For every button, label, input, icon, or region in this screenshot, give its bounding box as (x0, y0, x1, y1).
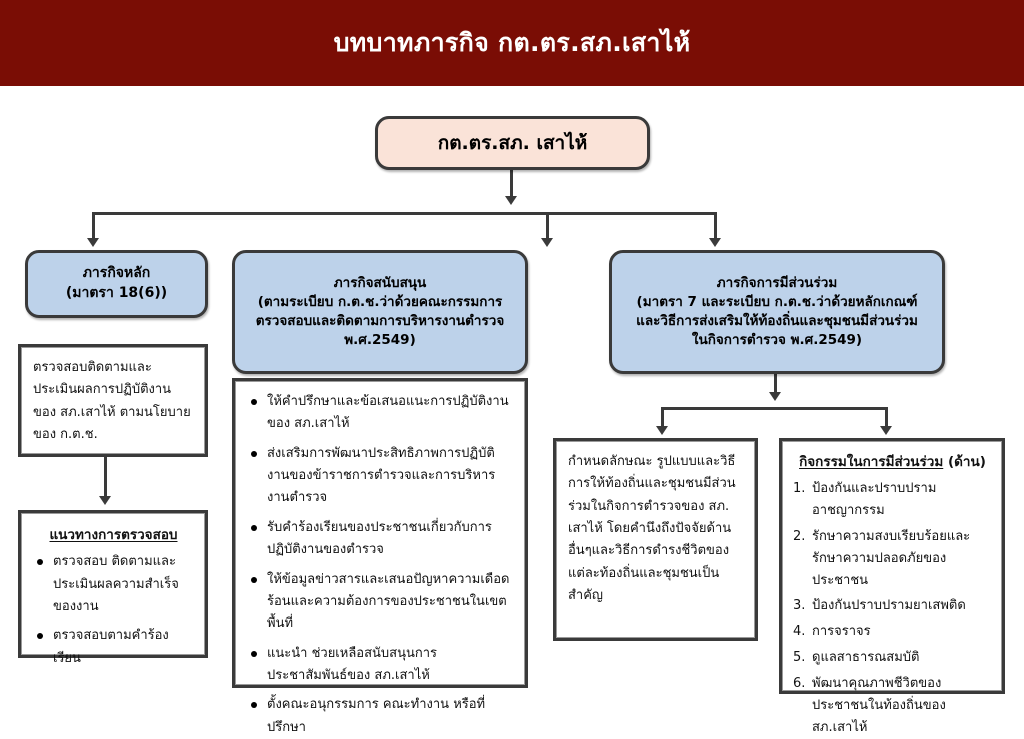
audit-guidelines-list: ตรวจสอบ ติดตามและประเมินผลความสำเร็จของง… (33, 551, 194, 670)
list-item: การจราจร (792, 621, 993, 643)
branch-node-main-mission[interactable]: ภารกิจหลัก (มาตรา 18(6)) (25, 250, 208, 318)
connector-drop-branch-2-arrow (541, 238, 553, 247)
connector-participation-drop-left-arrow (656, 426, 668, 435)
list-item: ตั้งคณะอนุกรรมการ คณะทำงาน หรือที่ปรึกษา (247, 694, 514, 739)
list-item: ดูแลสาธารณสมบัติ (792, 647, 993, 669)
branch-support-mission-title-line-2: (ตามระเบียบ ก.ต.ช.ว่าด้วยคณะกรรมการ (235, 293, 525, 312)
connector-drop-branch-1-arrow (87, 238, 99, 247)
support-mission-list: ให้คำปรึกษาและข้อเสนอแนะการปฏิบัติงานของ… (247, 391, 514, 739)
root-node-kor-tor-tor[interactable]: กต.ตร.สภ. เสาไห้ (375, 116, 650, 170)
connector-participation-stem-arrow (769, 392, 781, 401)
connector-drop-branch-2 (546, 212, 549, 241)
participation-activities-inner: กิจกรรมในการมีส่วนร่วม (ด้าน) ป้องกันและ… (782, 441, 1002, 691)
participation-activities-heading-plain: (ด้าน) (943, 454, 986, 470)
main-mission-body-text: ตรวจสอบติดตามและประเมินผลการปฏิบัติงานขอ… (33, 357, 194, 446)
list-item: ป้องกันและปราบปรามอาชญากรรม (792, 478, 993, 522)
branch-node-support-mission[interactable]: ภารกิจสนับสนุน (ตามระเบียบ ก.ต.ช.ว่าด้วย… (232, 250, 528, 374)
list-item: รักษาความสงบเรียบร้อยและรักษาความปลอดภัย… (792, 526, 993, 591)
branch-support-mission-title-line-4: พ.ศ.2549) (235, 331, 525, 350)
list-item: ส่งเสริมการพัฒนาประสิทธิภาพการปฏิบัติงาน… (247, 443, 514, 510)
participation-criteria-text: กำหนดลักษณะ รูปแบบและวิธีการให้ท้องถิ่นแ… (568, 451, 744, 608)
list-item: ตรวจสอบตามคำร้องเรียน (33, 625, 194, 670)
connector-drop-branch-3-arrow (709, 238, 721, 247)
connector-main-mission-to-guidelines (104, 457, 107, 499)
list-item: ให้ข้อมูลข่าวสารและเสนอปัญหาความเดือดร้อ… (247, 569, 514, 636)
connector-main-mission-to-guidelines-arrow (99, 496, 111, 505)
main-mission-body-inner: ตรวจสอบติดตามและประเมินผลการปฏิบัติงานขอ… (21, 347, 205, 454)
support-mission-body-box: ให้คำปรึกษาและข้อเสนอแนะการปฏิบัติงานของ… (232, 378, 528, 688)
branch-support-mission-title-line-3: ตรวจสอบและติดตามการบริหารงานตำรวจ (235, 312, 525, 331)
connector-drop-branch-1 (92, 212, 95, 241)
branch-support-mission-title-line-1: ภารกิจสนับสนุน (235, 274, 525, 293)
connector-root-stem (510, 170, 513, 199)
audit-guidelines-heading: แนวทางการตรวจสอบ (33, 525, 194, 545)
audit-guidelines-heading-text: แนวทางการตรวจสอบ (49, 527, 177, 543)
participation-criteria-box: กำหนดลักษณะ รูปแบบและวิธีการให้ท้องถิ่นแ… (553, 438, 758, 641)
connector-distribution-bar-main (92, 212, 717, 215)
list-item: ให้คำปรึกษาและข้อเสนอแนะการปฏิบัติงานของ… (247, 391, 514, 436)
header-band: บทบาทภารกิจ กต.ตร.สภ.เสาไห้ (0, 0, 1024, 86)
branch-participation-title-line-3: และวิธีการส่งเสริมให้ท้องถิ่นและชุมชนมีส… (612, 312, 942, 331)
page-title: บทบาทภารกิจ กต.ตร.สภ.เสาไห้ (0, 0, 1024, 86)
connector-participation-drop-right-arrow (880, 426, 892, 435)
branch-participation-title-line-4: ในกิจการตำรวจ พ.ศ.2549) (612, 331, 942, 350)
connector-drop-branch-3 (714, 212, 717, 241)
connector-root-stem-arrow (505, 196, 517, 205)
main-mission-body-box: ตรวจสอบติดตามและประเมินผลการปฏิบัติงานขอ… (18, 344, 208, 457)
connector-participation-bar (661, 407, 888, 410)
audit-guidelines-box: แนวทางการตรวจสอบ ตรวจสอบ ติดตามและประเมิ… (18, 510, 208, 658)
list-item: ป้องกันปราบปรามยาเสพติด (792, 595, 993, 617)
org-chart-canvas: กต.ตร.สภ. เสาไห้ ภารกิจหลัก (มาตรา 18(6)… (0, 86, 1024, 724)
list-item: ตรวจสอบ ติดตามและประเมินผลความสำเร็จของง… (33, 551, 194, 618)
list-item: พัฒนาคุณภาพชีวิตของประชาชนในท้องถิ่นของ … (792, 673, 993, 738)
audit-guidelines-inner: แนวทางการตรวจสอบ ตรวจสอบ ติดตามและประเมิ… (21, 513, 205, 655)
support-mission-body-inner: ให้คำปรึกษาและข้อเสนอแนะการปฏิบัติงานของ… (235, 381, 525, 685)
list-item: รับคำร้องเรียนของประชาชนเกี่ยวกับการปฏิบ… (247, 517, 514, 562)
branch-participation-title-line-1: ภารกิจการมีส่วนร่วม (612, 274, 942, 293)
participation-activities-heading: กิจกรรมในการมีส่วนร่วม (ด้าน) (792, 452, 993, 472)
participation-criteria-inner: กำหนดลักษณะ รูปแบบและวิธีการให้ท้องถิ่นแ… (556, 441, 755, 638)
participation-activities-list: ป้องกันและปราบปรามอาชญากรรม รักษาความสงบ… (792, 478, 993, 738)
branch-participation-title-line-2: (มาตรา 7 และระเบียบ ก.ต.ช.ว่าด้วยหลักเกณ… (612, 293, 942, 312)
list-item: แนะนำ ช่วยเหลือสนับสนุนการประชาสัมพันธ์ข… (247, 643, 514, 688)
branch-main-mission-title-line-2: (มาตรา 18(6)) (28, 284, 205, 304)
branch-main-mission-title-line-1: ภารกิจหลัก (28, 264, 205, 284)
branch-node-participation-mission[interactable]: ภารกิจการมีส่วนร่วม (มาตรา 7 และระเบียบ … (609, 250, 945, 374)
participation-activities-box: กิจกรรมในการมีส่วนร่วม (ด้าน) ป้องกันและ… (779, 438, 1005, 694)
root-node-label: กต.ตร.สภ. เสาไห้ (378, 130, 647, 157)
participation-activities-heading-underlined: กิจกรรมในการมีส่วนร่วม (799, 454, 943, 470)
